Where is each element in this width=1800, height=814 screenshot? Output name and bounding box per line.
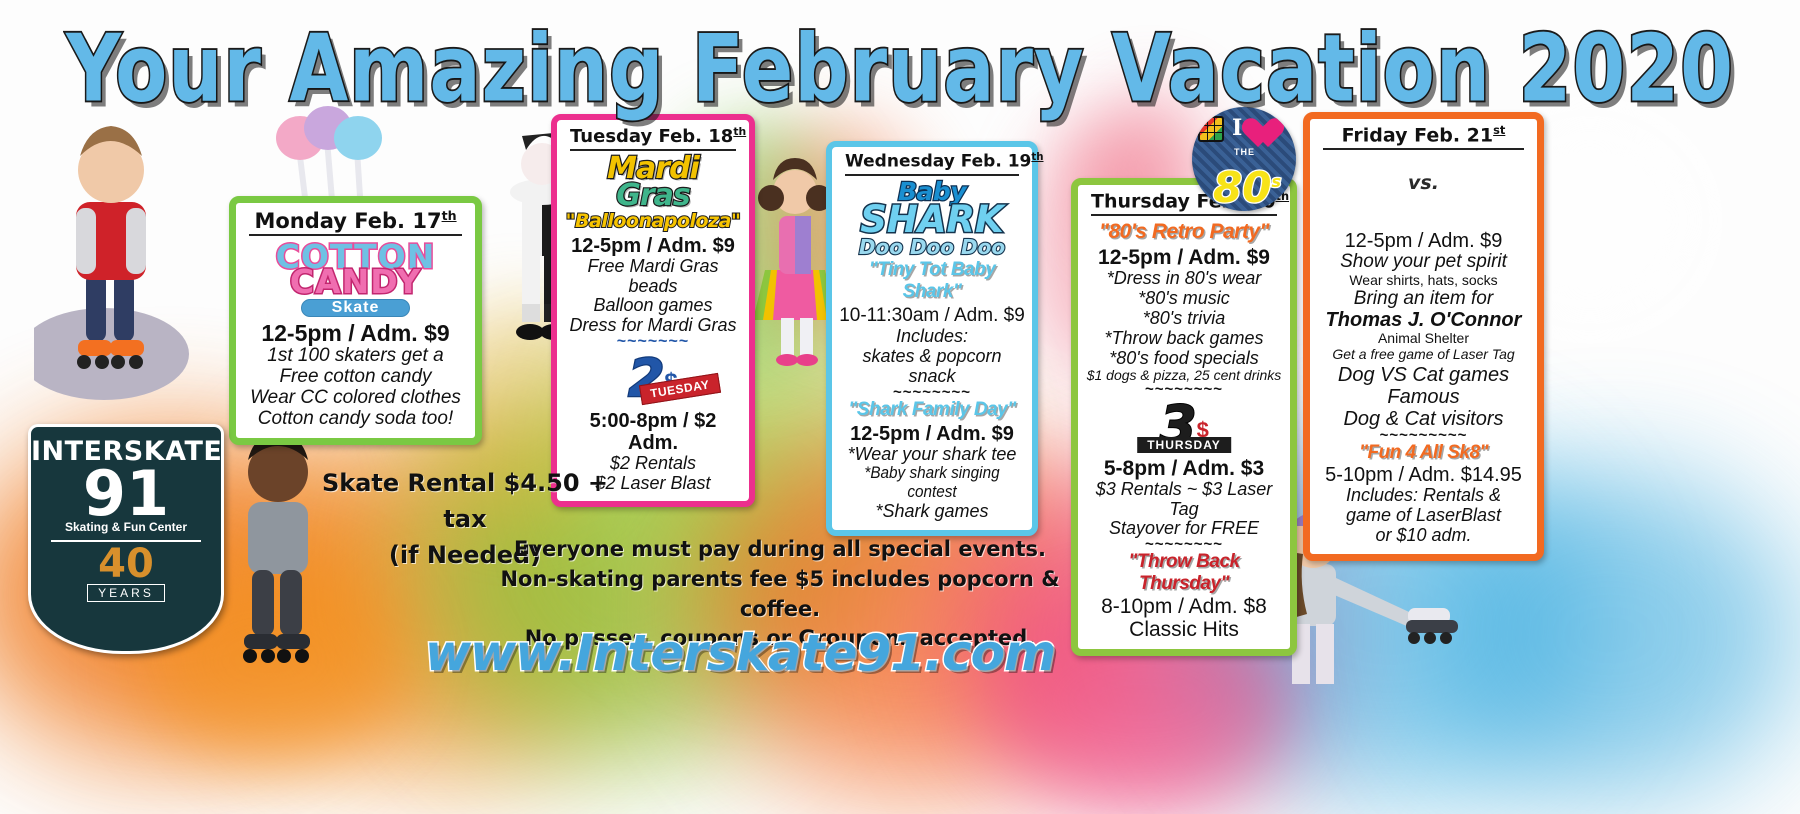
day-card-thursday[interactable]: Thursday Feb. 20th "80's Retro Party" 12… (1071, 178, 1297, 656)
friday-line-1: Show your pet spirit (1317, 252, 1530, 273)
balloonapoloza-label: "Balloonapoloza" (564, 210, 742, 232)
policy-line-0: Everyone must pay during all special eve… (480, 535, 1080, 565)
cotton-candy-skate-pill: Skate (301, 299, 411, 317)
thursday-line2-1: $3 Rentals ~ $3 Laser Tag (1085, 480, 1283, 520)
wednesday-heading: Wednesday Feb. 19th (845, 153, 1019, 176)
monday-line-3: Wear CC colored clothes (243, 388, 468, 409)
three-dollar-thursday-logo: 3$ THURSDAY (1085, 399, 1283, 455)
day-card-wednesday[interactable]: Wednesday Feb. 19th Baby SHARK Doo Doo D… (826, 141, 1038, 536)
tuesday-line-2: Balloon games (564, 296, 742, 316)
monday-line-4: Cotton candy soda too! (243, 409, 468, 430)
tuesday-line-1: Free Mardi Gras beads (564, 257, 742, 297)
monday-heading: Monday Feb. 17th (249, 209, 462, 236)
vs-label: vs. (1408, 172, 1439, 194)
two-dollar-tuesday-logo: 2$ TUESDAY (564, 353, 742, 407)
badge-80s-text: 80s (1199, 167, 1295, 209)
wednesday-line2-1: *Wear your shark tee (839, 445, 1025, 465)
wednesday-line-1: Includes: (839, 327, 1025, 347)
fun-4-all-sk8-label: "Fun 4 All Sk8" (1317, 442, 1530, 464)
friday-line-8: Famous (1317, 386, 1530, 408)
monday-line-0: 12-5pm / Adm. $9 (243, 321, 468, 346)
thursday-divider-2: ~~~~~~~~ (1085, 539, 1283, 551)
wednesday-line2-3: *Shark games (839, 502, 1025, 522)
friday-heading-sup: st (1493, 123, 1505, 137)
brand-number: 91 (31, 465, 221, 522)
rental-line-1: Skate Rental $4.50 + tax (320, 465, 610, 537)
cotton-candy-logo: COTTON CANDY Skate (243, 242, 468, 317)
tuesday-divider: ~~~~~~~ (564, 336, 742, 349)
friday-line3-1: Includes: Rentals & (1317, 486, 1530, 506)
heart-icon (1250, 119, 1284, 149)
wednesday-line-2: skates & popcorn snack (839, 347, 1025, 387)
thursday-line3-0: 8-10pm / Adm. $8 (1085, 595, 1283, 618)
badge-80-sup: s (1271, 172, 1281, 191)
shark-family-day-label: "Shark Family Day" (839, 399, 1025, 421)
baby-shark-word-doo: Doo Doo Doo (839, 237, 1025, 257)
badge-80-number: 80 (1213, 163, 1271, 211)
policy-line-1: Non-skating parents fee $5 includes popc… (480, 565, 1080, 625)
monday-line-1: 1st 100 skaters get a (243, 346, 468, 367)
monday-heading-text: Monday Feb. 17 (254, 209, 441, 233)
wednesday-line2-2: *Baby shark singing contest (848, 464, 1015, 501)
monday-line-2: Free cotton candy (243, 367, 468, 388)
i-love-the-80s-badge: I THE 80s (1192, 107, 1296, 211)
tiny-tot-baby-shark-label: "Tiny Tot Baby Shark" (839, 259, 1025, 303)
day-card-tuesday[interactable]: Tuesday Feb. 18th Mardi Gras "Balloonapo… (551, 114, 755, 507)
mardi-gras-word-2: Gras (564, 182, 742, 209)
website-url[interactable]: www.Interskate91.com (380, 624, 1100, 682)
badge-the-label: THE (1234, 147, 1255, 157)
tuesday-heading: Tuesday Feb. 18th (570, 126, 736, 151)
day-card-monday[interactable]: Monday Feb. 17th COTTON CANDY Skate 12-5… (229, 196, 482, 445)
friday-line3-0: 5-10pm / Adm. $14.95 (1317, 464, 1530, 486)
tuesday-line2-0: 5:00-8pm / $2 Adm. (564, 410, 742, 454)
three-dollar-ribbon: THURSDAY (1137, 437, 1231, 453)
friday-line-7: Dog VS Cat games (1317, 364, 1530, 386)
wednesday-heading-sup: th (1031, 152, 1043, 163)
anniversary-number: 40 (31, 546, 221, 582)
thursday-line-0: 12-5pm / Adm. $9 (1085, 246, 1283, 269)
tuesday-heading-text: Tuesday Feb. 18 (570, 126, 733, 147)
flyer-canvas: Your Amazing February Vacation 2020 (0, 0, 1800, 814)
friday-line3-2: game of LaserBlast (1317, 506, 1530, 526)
wednesday-divider: ~~~~~~~~ (839, 387, 1025, 399)
friday-line-6: Get a free game of Laser Tag (1317, 347, 1530, 362)
page-title-text: Your Amazing February Vacation 2020 (66, 14, 1734, 123)
tuesday-heading-sup: th (733, 125, 746, 138)
friday-line-2: Wear shirts, hats, socks (1317, 273, 1530, 288)
thursday-line-5: *80's food specials (1085, 349, 1283, 369)
thursday-line-4: *Throw back games (1085, 329, 1283, 349)
tuesday-line-0: 12-5pm / Adm. $9 (564, 235, 742, 257)
day-card-friday[interactable]: Friday Feb. 21st vs. 12-5pm / Adm. $9 Sh… (1303, 112, 1544, 561)
friday-line-4: Thomas J. O'Connor (1317, 309, 1530, 331)
wednesday-line2-0: 12-5pm / Adm. $9 (839, 423, 1025, 445)
thursday-line-3: *80's trivia (1085, 309, 1283, 329)
wednesday-heading-text: Wednesday Feb. 19 (845, 152, 1031, 172)
brand-tagline: Skating & Fun Center (31, 520, 221, 534)
friday-line-0: 12-5pm / Adm. $9 (1317, 230, 1530, 252)
page-title: Your Amazing February Vacation 2020 (0, 14, 1800, 103)
throw-back-thursday-label: "Throw Back Thursday" (1085, 551, 1283, 595)
interskate-91-logo[interactable]: INTERSKATE 91 Skating & Fun Center 40 YE… (28, 424, 224, 654)
80s-retro-party-label: "80's Retro Party" (1085, 220, 1283, 244)
thursday-line-2: *80's music (1085, 289, 1283, 309)
baby-shark-logo: Baby SHARK Doo Doo Doo (839, 180, 1025, 258)
thursday-line2-0: 5-8pm / Adm. $3 (1085, 457, 1283, 480)
friday-line-3: Bring an item for (1317, 289, 1530, 310)
monday-heading-sup: th (442, 208, 457, 223)
mardi-gras-logo: Mardi Gras "Balloonapoloza" (564, 155, 742, 232)
wednesday-line-0: 10-11:30am / Adm. $9 (839, 306, 1025, 327)
friday-divider: ~~~~~~~~~ (1317, 430, 1530, 442)
anniversary-years-label: YEARS (87, 584, 165, 602)
thursday-line-1: *Dress in 80's wear (1085, 269, 1283, 289)
dog-vs-cat-photo-row: vs. (1317, 154, 1530, 230)
friday-heading-text: Friday Feb. 21 (1342, 124, 1493, 146)
thursday-line3-1: Classic Hits (1085, 618, 1283, 641)
friday-line3-3: or $10 adm. (1317, 526, 1530, 546)
baby-shark-word-shark: SHARK (839, 203, 1025, 237)
friday-line-5: Animal Shelter (1317, 331, 1530, 346)
friday-heading: Friday Feb. 21st (1323, 125, 1524, 150)
